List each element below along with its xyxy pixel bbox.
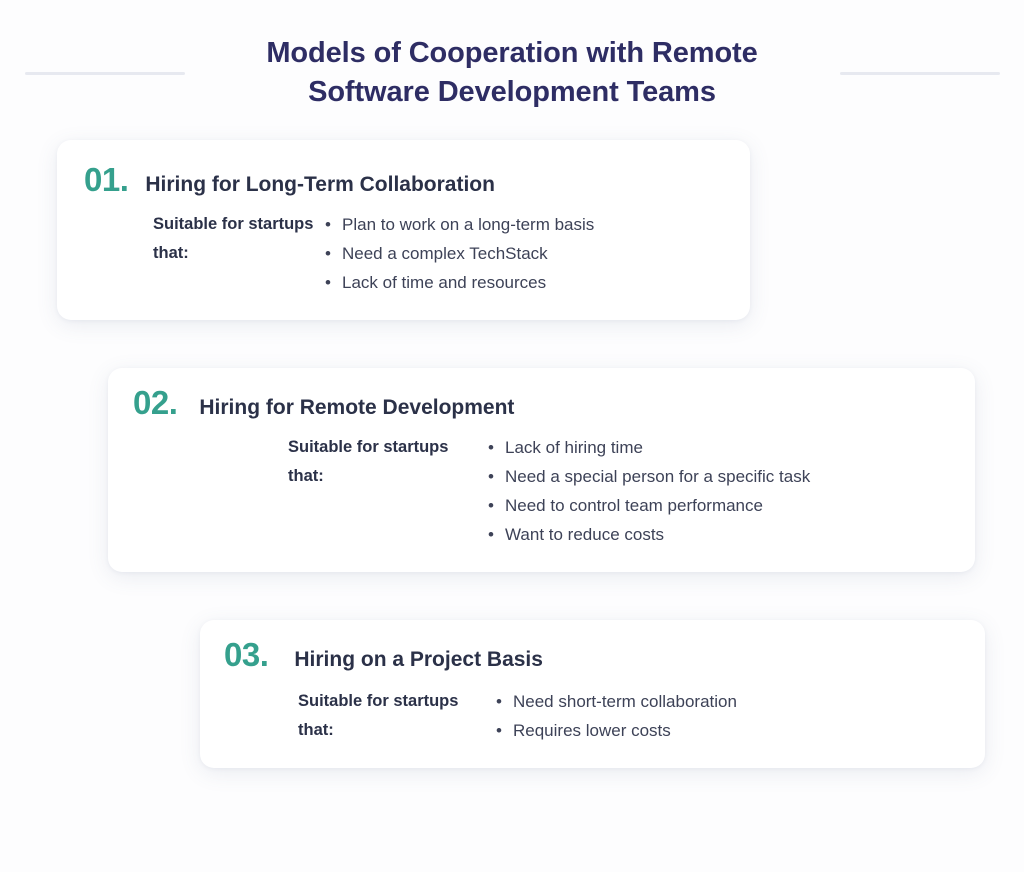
infographic-page: Models of Cooperation with Remote Softwa… (0, 0, 1024, 872)
card-2-bullet-3: Need to control team performance (505, 496, 763, 515)
card-2-suitable-label-line-2: that: (288, 462, 486, 491)
card-1-suitable-label-line-1: Suitable for startups (153, 210, 323, 239)
bullet-dot-icon: • (496, 687, 502, 716)
card-1-bullet-3: Lack of time and resources (342, 273, 546, 292)
title-rule-left (25, 72, 185, 75)
list-item: • Lack of time and resources (323, 268, 594, 297)
card-1-title: Hiring for Long-Term Collaboration (145, 174, 495, 195)
bullet-dot-icon: • (488, 520, 494, 549)
card-3-suitable-label: Suitable for startups that: (298, 687, 494, 745)
page-title: Models of Cooperation with Remote Softwa… (182, 34, 842, 112)
card-3-suitable-label-line-2: that: (298, 716, 494, 745)
list-item: • Lack of hiring time (486, 433, 810, 462)
card-1-number: 01. (84, 163, 128, 196)
card-2-title: Hiring for Remote Development (199, 397, 514, 418)
card-1-bullet-1: Plan to work on a long-term basis (342, 215, 594, 234)
bullet-dot-icon: • (496, 716, 502, 745)
card-1-suitable-label-line-2: that: (153, 239, 323, 268)
card-3-number: 03. (224, 638, 268, 671)
list-item: • Need a complex TechStack (323, 239, 594, 268)
card-2-suitable-label: Suitable for startups that: (288, 433, 486, 491)
card-2-bullet-2: Need a special person for a specific tas… (505, 467, 810, 486)
model-card-1: 01. Hiring for Long-Term Collaboration S… (57, 140, 750, 320)
title-rule-right (840, 72, 1000, 75)
card-2-bullet-1: Lack of hiring time (505, 438, 643, 457)
card-3-title: Hiring on a Project Basis (294, 649, 543, 670)
bullet-dot-icon: • (325, 239, 331, 268)
bullet-dot-icon: • (325, 268, 331, 297)
card-1-bullet-2: Need a complex TechStack (342, 244, 548, 263)
list-item: • Requires lower costs (494, 716, 737, 745)
card-3-body: Suitable for startups that: • Need short… (298, 687, 737, 745)
bullet-dot-icon: • (488, 491, 494, 520)
card-2-number: 02. (133, 386, 177, 419)
card-2-header: 02. Hiring for Remote Development (133, 386, 514, 419)
card-2-body: Suitable for startups that: • Lack of hi… (288, 433, 810, 549)
card-1-body: Suitable for startups that: • Plan to wo… (153, 210, 594, 297)
list-item: • Need to control team performance (486, 491, 810, 520)
card-1-header: 01. Hiring for Long-Term Collaboration (84, 163, 495, 196)
list-item: • Want to reduce costs (486, 520, 810, 549)
card-3-suitable-label-line-1: Suitable for startups (298, 687, 494, 716)
model-card-2: 02. Hiring for Remote Development Suitab… (108, 368, 975, 572)
model-card-3: 03. Hiring on a Project Basis Suitable f… (200, 620, 985, 768)
bullet-dot-icon: • (488, 462, 494, 491)
card-3-bullet-1: Need short-term collaboration (513, 692, 737, 711)
card-1-bullet-list: • Plan to work on a long-term basis • Ne… (323, 210, 594, 297)
list-item: • Need short-term collaboration (494, 687, 737, 716)
card-1-suitable-label: Suitable for startups that: (153, 210, 323, 268)
bullet-dot-icon: • (488, 433, 494, 462)
card-3-bullet-list: • Need short-term collaboration • Requir… (494, 687, 737, 745)
page-title-line-2: Software Development Teams (182, 73, 842, 112)
card-2-bullet-4: Want to reduce costs (505, 525, 664, 544)
page-header: Models of Cooperation with Remote Softwa… (0, 0, 1024, 130)
page-title-line-1: Models of Cooperation with Remote (182, 34, 842, 73)
card-3-header: 03. Hiring on a Project Basis (224, 638, 543, 671)
card-2-bullet-list: • Lack of hiring time • Need a special p… (486, 433, 810, 549)
list-item: • Plan to work on a long-term basis (323, 210, 594, 239)
card-2-suitable-label-line-1: Suitable for startups (288, 433, 486, 462)
card-3-bullet-2: Requires lower costs (513, 721, 671, 740)
list-item: • Need a special person for a specific t… (486, 462, 810, 491)
bullet-dot-icon: • (325, 210, 331, 239)
